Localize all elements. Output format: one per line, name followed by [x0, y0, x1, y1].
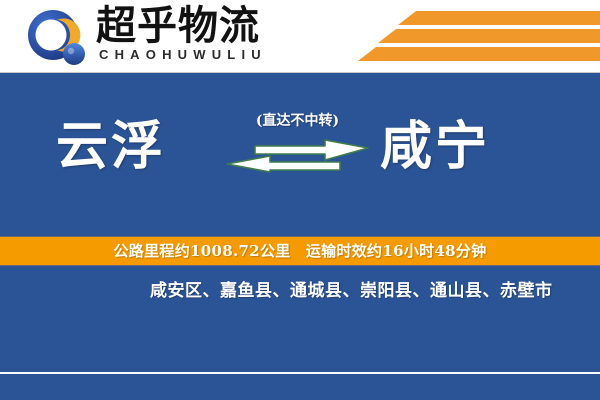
- logistics-route-banner: 超乎物流 CHAOHUWULIU 云浮 (直达不中转) 【往返运输】 咸宁: [0, 0, 600, 400]
- stripe-3: [358, 47, 600, 61]
- destination-city: 咸宁: [380, 117, 490, 177]
- coverage-section: 咸安区、嘉鱼县、通城县、崇阳县、通山县、赤壁市: [0, 266, 600, 400]
- origin-city: 云浮: [56, 117, 166, 177]
- double-headed-arrow-icon: [225, 139, 370, 173]
- distance-duration-text: 公路里程约1008.72公里 运输时效约16小时48分钟: [114, 237, 487, 265]
- route-note-direct: (直达不中转): [225, 111, 370, 131]
- bottom-divider: [0, 372, 600, 374]
- circle-crescent-logo-icon: [26, 9, 88, 67]
- route-hero: 云浮 (直达不中转) 【往返运输】 咸宁: [0, 72, 600, 236]
- brand-name-cn: 超乎物流: [96, 4, 260, 48]
- stripe-1: [398, 11, 600, 25]
- banner-header: 超乎物流 CHAOHUWULIU: [0, 0, 600, 72]
- stripe-2: [378, 29, 600, 43]
- distance-duration-bar: 公路里程约1008.72公里 运输时效约16小时48分钟: [0, 236, 600, 266]
- route-middle-block: (直达不中转) 【往返运输】: [225, 111, 370, 229]
- coverage-area-list: 咸安区、嘉鱼县、通城县、崇阳县、通山县、赤壁市: [150, 278, 590, 304]
- brand-name-en: CHAOHUWULIU: [99, 48, 267, 62]
- header-stripes-decoration: [340, 0, 600, 72]
